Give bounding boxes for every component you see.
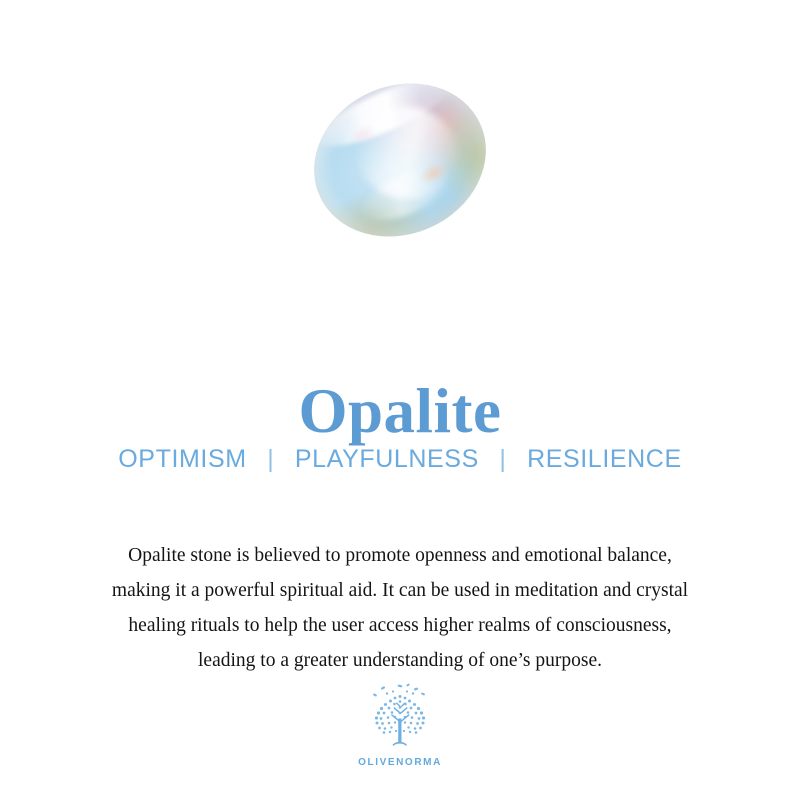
- keyword-list: OPTIMISM | PLAYFULNESS | RESILIENCE: [0, 445, 800, 474]
- stone-image-area: [0, 60, 800, 260]
- opalite-info-card: Opalite OPTIMISM | PLAYFULNESS | RESILIE…: [0, 0, 800, 800]
- tree-of-life-icon: [361, 682, 439, 754]
- keyword-resilience: RESILIENCE: [527, 445, 682, 473]
- keyword-optimism: OPTIMISM: [118, 445, 246, 473]
- stone-body: [290, 57, 511, 264]
- opalite-stone-image: [312, 86, 488, 234]
- keyword-separator-2: |: [486, 445, 519, 474]
- keyword-separator-1: |: [254, 445, 287, 474]
- brand-name: OLIVENORMA: [0, 757, 800, 768]
- description-line-2: making it a powerful spiritual aid. It c…: [20, 573, 780, 608]
- description-line-4: leading to a greater understanding of on…: [20, 643, 780, 678]
- description-line-3: healing rituals to help the user access …: [20, 608, 780, 643]
- description-line-1: Opalite stone is believed to promote ope…: [20, 538, 780, 573]
- brand-logo: OLIVENORMA: [0, 682, 800, 768]
- keyword-playfulness: PLAYFULNESS: [295, 445, 479, 473]
- page-title: Opalite: [0, 378, 800, 444]
- stone-edge-shading: [290, 57, 511, 264]
- description-text: Opalite stone is believed to promote ope…: [20, 538, 780, 678]
